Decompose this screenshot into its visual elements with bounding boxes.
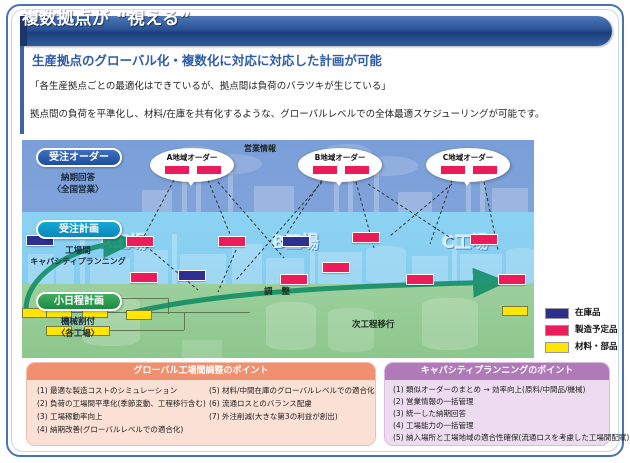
panel-left-item-4: (4) 納期改善(グローバルレベルでの適合化): [37, 424, 183, 435]
production-mark-c2: [470, 234, 498, 245]
order-chip-a1: [164, 165, 190, 175]
panel-capacity-planning: キャパシティプランニングのポイント (1) 類似オーダーのまとめ → 効率向上(…: [384, 362, 610, 446]
production-mark-b1: [218, 236, 246, 247]
panel-left-item-3: (3) 工場稼動率向上: [37, 411, 103, 422]
accent-rail: [20, 46, 24, 134]
stage-label-column: 受注オーダー 納期回答 〈全国営業〉 受注計画 工場間 キャパシティプランニング…: [22, 140, 134, 358]
order-chip-a2: [196, 165, 222, 175]
inventory-mark-b: [178, 270, 206, 281]
panel-right-item-2: (2) 営業情報の一括管理: [393, 396, 474, 407]
panel-global-adjustment-heading: グローバル工場間調整のポイント: [27, 363, 375, 380]
panel-left-item-5: (5) 材料/中間在庫のグローバルレベルでの適合化: [209, 385, 374, 396]
stage-plan-line2: キャパシティプランニング: [22, 256, 134, 267]
order-chip-c2: [472, 165, 498, 175]
stage-order-line1: 納期回答: [22, 171, 134, 183]
order-chip-b2: [344, 165, 370, 175]
panel-capacity-planning-heading: キャパシティプランニングのポイント: [385, 363, 609, 380]
material-box-8: [502, 306, 528, 316]
stage-pill-plan: 受注計画: [36, 220, 122, 239]
order-bubble-b-tail: [332, 176, 346, 186]
order-chip-c1: [440, 165, 466, 175]
adjust-label: 調 整: [264, 285, 293, 297]
legend-label-production: 製造予定品: [575, 323, 618, 335]
production-mark-d1: [322, 262, 350, 273]
order-bubble-c-label: C地域オーダー: [426, 152, 510, 163]
production-mark-a2: [130, 272, 158, 283]
panel-right-item-1: (1) 類似オーダーのまとめ → 効率向上(原料/中間品/機械): [393, 384, 585, 395]
sales-info-label: 営業情報: [244, 143, 276, 154]
panel-right-item-5: (5) 納入場所と工場地域の適合性確保(流通ロスを考慮した工場間配賦): [393, 432, 629, 443]
order-bubble-a: A地域オーダー: [150, 148, 234, 182]
panel-left-item-7: (7) 外注削減(大きな第3の利益が創出): [209, 411, 338, 422]
stage-plan-line1: 工場間: [22, 244, 134, 256]
order-bubble-c-tail: [460, 176, 474, 186]
slide: 複数拠点が “視える” 生産拠点のグローバル化・複数化に対応に対応した計画が可能…: [0, 0, 630, 463]
quote-text: 「各生産拠点ごとの最適化はできているが、拠点間は負荷のバラツキが生じている」: [30, 78, 391, 92]
legend-row-material: 材料・部品: [545, 339, 629, 356]
order-bubble-a-tail: [184, 176, 198, 186]
legend-swatch-material: [545, 342, 569, 353]
lead-text: 拠点間の負荷を平準化し、材料/在庫を共有化するような、グローバルレベルでの全体最…: [30, 106, 545, 120]
legend-label-inventory: 在庫品: [575, 306, 601, 318]
production-mark-e1: [498, 274, 526, 285]
global-scheduling-diagram: A工場 B工場 C工場 受注オーダー 納期回答 〈全国営業〉 受注計画 工場間 …: [22, 140, 534, 358]
order-bubble-b-label: B地域オーダー: [298, 152, 382, 163]
next-process-label: 次工程移行: [352, 318, 395, 330]
panel-left-item-6: (6) 流通ロスとのバランス配慮: [209, 398, 312, 409]
production-mark-c1: [352, 232, 380, 243]
stage-pill-schedule: 小日程計画: [36, 292, 122, 311]
panel-right-item-3: (3) 統一した納期回答: [393, 408, 466, 419]
stage-order-line2: 〈全国営業〉: [22, 183, 134, 195]
order-bubble-c: C地域オーダー: [426, 148, 510, 182]
panel-left-item-2: (2) 負荷の工場間平準化(季節変動、工程移行含む): [37, 398, 206, 409]
inventory-mark-c: [282, 236, 310, 247]
legend-row-inventory: 在庫品: [545, 305, 629, 322]
stage-schedule-line2: 〈各工場〉: [22, 327, 134, 339]
legend-swatch-production: [545, 325, 569, 336]
panel-left-item-1: (1) 最適な製造コストのシミュレーション: [37, 385, 177, 396]
subtitle: 生産拠点のグローバル化・複数化に対応に対応した計画が可能: [32, 50, 382, 69]
legend: 在庫品 製造予定品 材料・部品: [545, 305, 629, 356]
page-title: 複数拠点が “視える”: [22, 4, 191, 29]
order-chip-b1: [312, 165, 338, 175]
production-mark-b2: [280, 274, 308, 285]
panel-global-adjustment: グローバル工場間調整のポイント (1) 最適な製造コストのシミュレーション (2…: [26, 362, 376, 446]
order-bubble-a-label: A地域オーダー: [150, 152, 234, 163]
stage-pill-order: 受注オーダー: [36, 148, 122, 167]
legend-label-material: 材料・部品: [575, 340, 618, 352]
stage-schedule-line1: 機械割付: [22, 315, 134, 327]
production-mark-d2: [406, 274, 434, 285]
panel-right-item-4: (4) 工場能力の一括管理: [393, 420, 474, 431]
order-bubble-b: B地域オーダー: [298, 148, 382, 182]
legend-swatch-inventory: [545, 308, 569, 319]
legend-row-production: 製造予定品: [545, 322, 629, 339]
